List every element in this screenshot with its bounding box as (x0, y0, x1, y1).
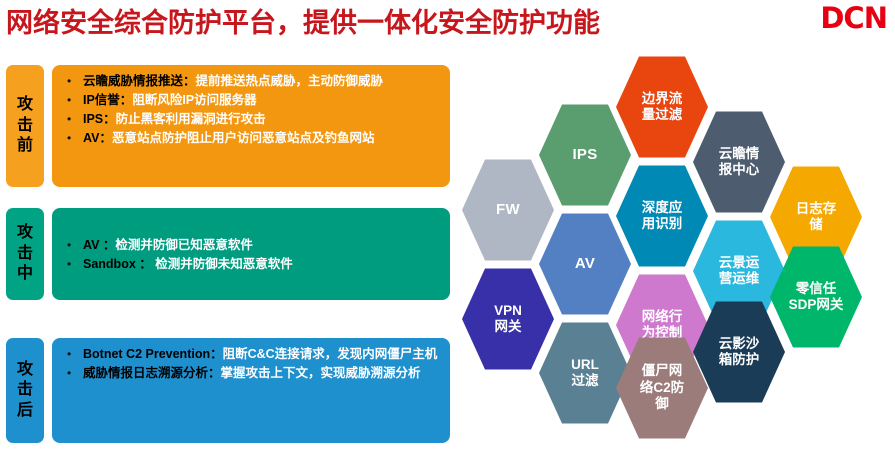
page-header: 网络安全综合防护平台，提供一体化安全防护功能 DCN (0, 0, 895, 47)
bullet-body: 阻断风险IP访问服务器 (132, 93, 256, 107)
bullet-row: •IP信誉：阻断风险IP访问服务器 (64, 91, 440, 109)
bullet-body: 提前推送热点威胁，主动防御威胁 (196, 74, 384, 88)
bullet-text: 云瞻威胁情报推送：提前推送热点威胁，主动防御威胁 (83, 72, 440, 90)
bullet-row: •云瞻威胁情报推送：提前推送热点威胁，主动防御威胁 (64, 72, 440, 90)
stage-tab-during-attack: 攻击中 (6, 208, 44, 300)
bullet-row: •Sandbox ： 检测并防御未知恶意软件 (64, 255, 440, 273)
stage-tab-char: 击 (17, 116, 33, 136)
bullet-row: •IPS：防止黑客利用漏洞进行攻击 (64, 110, 440, 128)
bullet-head: IPS： (83, 112, 116, 126)
bullet-marker-icon: • (64, 255, 83, 273)
hex-tile-label: IPS (572, 146, 597, 164)
stage-tab-char: 攻 (17, 360, 33, 380)
bullet-marker-icon: • (64, 236, 83, 254)
hex-tile-label: 深度应 用识别 (642, 200, 683, 233)
bullet-marker-icon: • (64, 364, 83, 382)
bullet-marker-icon: • (64, 72, 83, 90)
bullet-marker-icon: • (64, 110, 83, 128)
hex-tile-label: 云瞻情 报中心 (719, 146, 760, 179)
page-title: 网络安全综合防护平台，提供一体化安全防护功能 (6, 4, 600, 42)
dcn-logo: DCN (820, 1, 887, 35)
hex-tile-label: AV (575, 255, 595, 273)
hex-tile-label: 网络行 为控制 (642, 309, 683, 342)
hex-tile[interactable]: AV (539, 212, 631, 316)
bullet-row: •AV ：检测并防御已知恶意软件 (64, 236, 440, 254)
hex-tile-label: 云景运 营运维 (719, 255, 760, 288)
stage-tab-char: 击 (17, 244, 33, 264)
stage-tab-post-attack: 攻击后 (6, 338, 44, 443)
bullet-row: •威胁情报日志溯源分析：掌握攻击上下文，实现威胁溯源分析 (64, 364, 440, 382)
stage-tab-char: 攻 (17, 223, 33, 243)
hex-tile[interactable]: 边界流 量过滤 (616, 55, 708, 159)
bullet-marker-icon: • (64, 91, 83, 109)
hex-tile-label: 云影沙 箱防护 (719, 336, 760, 369)
bullet-body: 掌握攻击上下文，实现威胁溯源分析 (221, 366, 421, 380)
bullet-body: 恶意站点防护阻止用户访问恶意站点及钓鱼网站 (112, 131, 375, 145)
bullet-text: AV：恶意站点防护阻止用户访问恶意站点及钓鱼网站 (83, 129, 440, 147)
bullet-body: 阻断C&C连接请求，发现内网僵尸主机 (223, 347, 438, 361)
bullet-text: Sandbox ： 检测并防御未知恶意软件 (83, 255, 440, 273)
bullet-text: 威胁情报日志溯源分析：掌握攻击上下文，实现威胁溯源分析 (83, 364, 440, 382)
bullet-head: AV： (83, 131, 112, 145)
bullet-head: AV ： (83, 238, 115, 252)
bullet-head: Sandbox ： (83, 257, 152, 271)
bullet-body: 检测并防御已知恶意软件 (115, 238, 253, 252)
stage-tab-char: 前 (17, 136, 33, 156)
bullet-text: IPS：防止黑客利用漏洞进行攻击 (83, 110, 440, 128)
bullet-row: •Botnet C2 Prevention：阻断C&C连接请求，发现内网僵尸主机 (64, 345, 440, 363)
security-capability-hex-cluster: FWVPN 网关IPSAVURL 过滤边界流 量过滤深度应 用识别网络行 为控制… (455, 55, 895, 452)
bullet-body: 检测并防御未知恶意软件 (152, 257, 293, 271)
bullet-head: 威胁情报日志溯源分析： (83, 366, 221, 380)
bullet-row: •AV：恶意站点防护阻止用户访问恶意站点及钓鱼网站 (64, 129, 440, 147)
hex-tile[interactable]: 云瞻情 报中心 (693, 110, 785, 214)
stage-body-pre-attack: •云瞻威胁情报推送：提前推送热点威胁，主动防御威胁•IP信誉：阻断风险IP访问服… (52, 65, 450, 187)
stage-tab-char: 中 (17, 264, 33, 284)
hex-tile-label: 日志存 储 (796, 201, 837, 234)
bullet-marker-icon: • (64, 345, 83, 363)
stage-tab-char: 后 (17, 401, 33, 421)
stage-tab-pre-attack: 攻击前 (6, 65, 44, 187)
hex-tile[interactable]: IPS (539, 103, 631, 207)
bullet-head: Botnet C2 Prevention： (83, 347, 223, 361)
hex-tile-label: FW (496, 201, 520, 219)
bullet-text: Botnet C2 Prevention：阻断C&C连接请求，发现内网僵尸主机 (83, 345, 440, 363)
hex-tile-label: 边界流 量过滤 (642, 91, 683, 124)
hex-tile[interactable]: FW (462, 158, 554, 262)
bullet-head: 云瞻威胁情报推送： (83, 74, 196, 88)
hex-tile[interactable]: 零信任 SDP网关 (770, 245, 862, 349)
hex-tile[interactable]: VPN 网关 (462, 267, 554, 371)
hex-tile[interactable]: URL 过滤 (539, 321, 631, 425)
stage-body-post-attack: •Botnet C2 Prevention：阻断C&C连接请求，发现内网僵尸主机… (52, 338, 450, 443)
stage-tab-char: 击 (17, 380, 33, 400)
bullet-head: IP信誉： (83, 93, 132, 107)
bullet-text: AV ：检测并防御已知恶意软件 (83, 236, 440, 254)
bullet-body: 防止黑客利用漏洞进行攻击 (116, 112, 266, 126)
stage-tab-char: 攻 (17, 95, 33, 115)
bullet-marker-icon: • (64, 129, 83, 147)
stage-body-during-attack: •AV ：检测并防御已知恶意软件•Sandbox ： 检测并防御未知恶意软件 (52, 208, 450, 300)
hex-tile-label: URL 过滤 (571, 357, 599, 390)
bullet-text: IP信誉：阻断风险IP访问服务器 (83, 91, 440, 109)
hex-tile-label: 零信任 SDP网关 (789, 281, 844, 314)
hex-tile[interactable]: 深度应 用识别 (616, 164, 708, 268)
hex-tile-label: VPN 网关 (494, 303, 522, 336)
hex-tile-label: 僵尸网 络C2防 御 (640, 363, 684, 412)
